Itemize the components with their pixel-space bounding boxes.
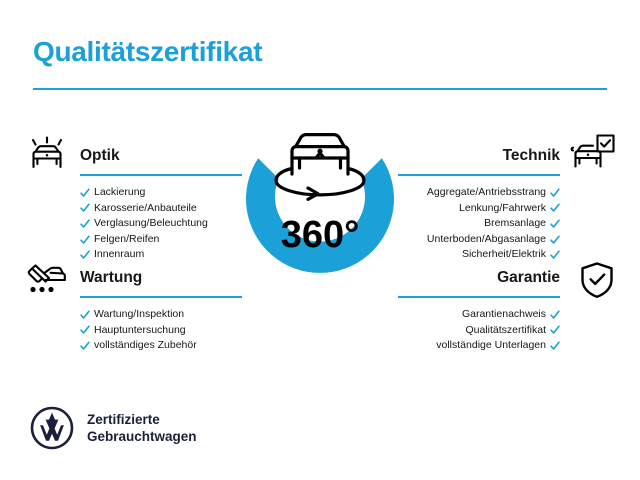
list-item: Garantienachweis [398,307,560,323]
section-optik-divider [80,174,242,176]
list-item-label: vollständiges Zubehör [94,338,197,354]
section-garantie-title: Garantie [398,268,560,288]
check-icon [550,219,560,229]
check-icon [80,235,90,245]
list-item: Qualitätszertifikat [398,323,560,339]
list-item: vollständiges Zubehör [80,338,242,354]
check-icon [550,235,560,245]
section-technik: Technik Aggregate/Antriebsstrang Lenkung… [398,146,560,263]
section-technik-list: Aggregate/Antriebsstrang Lenkung/Fahrwer… [398,185,560,263]
vw-certified-footer: Zertifizierte Gebrauchtwagen [30,406,197,450]
list-item: Lackierung [80,185,242,201]
list-item: Felgen/Reifen [80,232,242,248]
car-shine-icon [24,133,70,175]
list-item: Karosserie/Anbauteile [80,201,242,217]
check-icon [550,341,560,351]
section-optik-list: Lackierung Karosserie/Anbauteile Verglas… [80,185,242,263]
section-optik-title: Optik [80,146,242,166]
section-wartung-title: Wartung [80,268,242,288]
section-garantie-divider [398,296,560,298]
certificate-page: Qualitätszertifikat [0,0,640,480]
list-item-label: Verglasung/Beleuchtung [94,216,208,232]
section-wartung-list: Wartung/Inspektion Hauptuntersuchung vol… [80,307,242,354]
section-wartung-divider [80,296,242,298]
list-item-label: Wartung/Inspektion [94,307,184,323]
list-item: Innenraum [80,247,242,263]
list-item-label: Aggregate/Antriebsstrang [427,185,546,201]
list-item-label: Innenraum [94,247,144,263]
list-item-label: Karosserie/Anbauteile [94,201,197,217]
list-item: Lenkung/Fahrwerk [398,201,560,217]
car-service-wrench-icon [24,258,70,300]
list-item: Hauptuntersuchung [80,323,242,339]
section-garantie: Garantie Garantienachweis Qualitätszerti… [398,268,560,354]
check-icon [80,219,90,229]
badge-360-gebrauchtwagen-check: 360° Gebrauchtwagen-Check [222,112,418,322]
footer-label: Zertifizierte Gebrauchtwagen [87,411,197,445]
check-icon [550,250,560,260]
check-icon [80,203,90,213]
check-icon [550,188,560,198]
list-item-label: Unterboden/Abgasanlage [427,232,546,248]
list-item: Unterboden/Abgasanlage [398,232,560,248]
list-item-label: Qualitätszertifikat [465,323,546,339]
check-icon [550,310,560,320]
check-icon [80,325,90,335]
page-title: Qualitätszertifikat [33,36,262,68]
list-item-label: Bremsanlage [484,216,546,232]
list-item: Aggregate/Antriebsstrang [398,185,560,201]
list-item-label: vollständige Unterlagen [436,338,546,354]
car-checkbox-icon [570,132,616,174]
list-item-label: Lackierung [94,185,145,201]
section-technik-divider [398,174,560,176]
check-icon [550,325,560,335]
section-technik-header: Technik [398,146,560,176]
title-divider [33,88,607,90]
section-optik: Optik Lackierung Karosserie/Anbauteile V… [80,146,242,263]
vw-logo [30,406,74,450]
section-garantie-header: Garantie [398,268,560,298]
list-item-label: Sicherheit/Elektrik [462,247,546,263]
list-item: Bremsanlage [398,216,560,232]
list-item-label: Hauptuntersuchung [94,323,186,339]
check-icon [80,250,90,260]
list-item: Verglasung/Beleuchtung [80,216,242,232]
shield-check-icon [574,259,620,301]
section-technik-title: Technik [398,146,560,166]
check-icon [80,188,90,198]
section-wartung: Wartung Wartung/Inspektion Hauptuntersuc… [80,268,242,354]
list-item-label: Garantienachweis [462,307,546,323]
list-item: vollständige Unterlagen [398,338,560,354]
car-rotation-icon [276,135,364,200]
list-item-label: Lenkung/Fahrwerk [459,201,546,217]
section-optik-header: Optik [80,146,242,176]
section-garantie-list: Garantienachweis Qualitätszertifikat vol… [398,307,560,354]
list-item-label: Felgen/Reifen [94,232,159,248]
list-item: Wartung/Inspektion [80,307,242,323]
list-item: Sicherheit/Elektrik [398,247,560,263]
section-wartung-header: Wartung [80,268,242,298]
badge-center-label: 360° [281,214,360,256]
check-icon [550,203,560,213]
check-icon [80,310,90,320]
check-icon [80,341,90,351]
